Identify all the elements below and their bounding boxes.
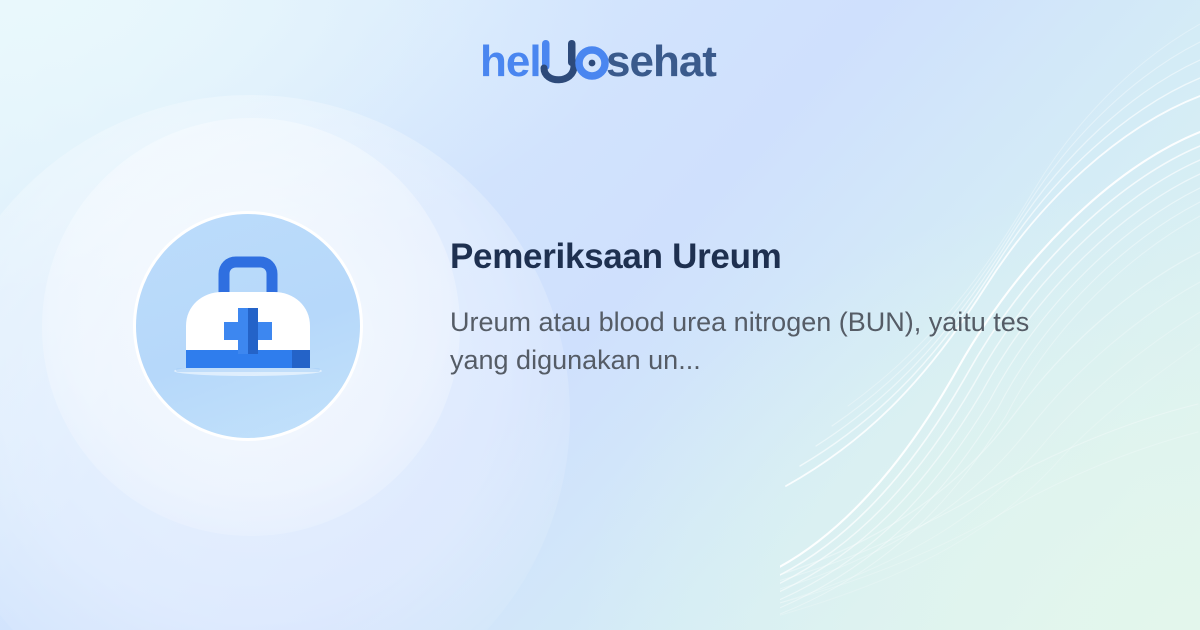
logo-text-sehat: sehat xyxy=(606,37,717,86)
hellosehat-logo: hel sehat xyxy=(480,36,720,92)
page-description: Ureum atau blood urea nitrogen (BUN), ya… xyxy=(450,303,1050,380)
text-block: Pemeriksaan Ureum Ureum atau blood urea … xyxy=(450,236,1070,379)
bag-handle xyxy=(224,262,272,294)
medical-bag-medallion xyxy=(133,211,363,441)
stethoscope-right-tube xyxy=(568,40,576,66)
logo-container: hel sehat hellosehat xyxy=(0,36,1200,92)
bag-base-band-shade xyxy=(292,350,310,368)
bag-cross-shade xyxy=(248,308,258,354)
stethoscope-chestpiece-dot xyxy=(589,60,596,67)
medical-bag-icon xyxy=(162,240,334,412)
logo-text-hello: hel xyxy=(480,37,541,86)
share-card: hel sehat hellosehat xyxy=(0,0,1200,630)
bag-ground-line xyxy=(176,368,320,372)
page-title: Pemeriksaan Ureum xyxy=(450,236,1070,279)
